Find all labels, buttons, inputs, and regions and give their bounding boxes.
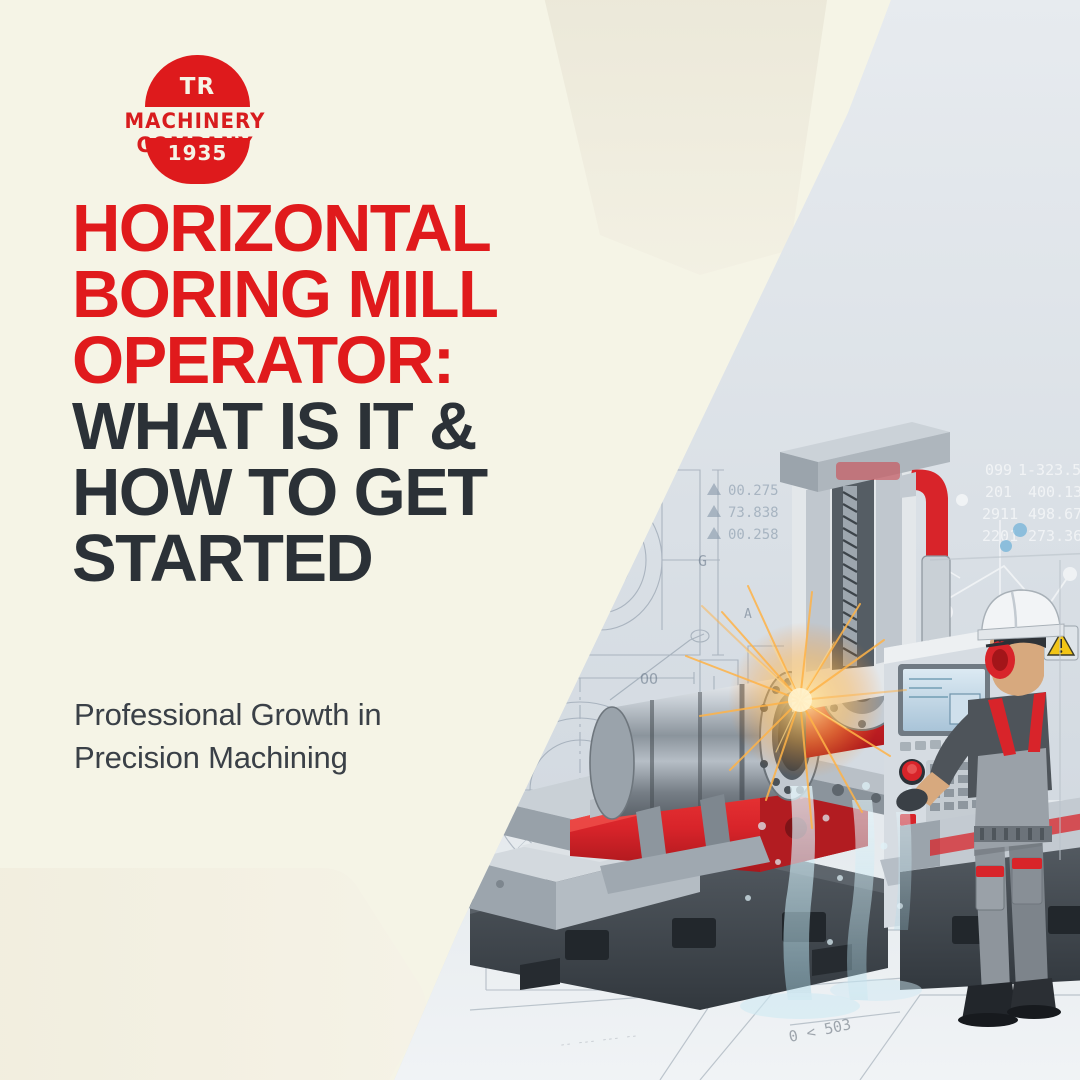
company-logo[interactable]: TR MACHINERY COMPANY 1935	[60, 55, 330, 170]
logo-bottom-arc: 1935	[145, 138, 250, 184]
headline-dark-line-2: HOW TO GET	[72, 460, 592, 526]
svg-text:099: 099	[985, 461, 1012, 479]
svg-text:273.360: 273.360	[1028, 527, 1080, 545]
subtitle-line-2: Precision Machining	[74, 737, 534, 780]
logo-initials: TR	[180, 76, 215, 107]
svg-text:OO: OO	[640, 670, 658, 688]
subtitle-line-1: Professional Growth in	[74, 694, 534, 737]
headline-red-line-1: HORIZONTAL	[72, 196, 592, 262]
logo-top-arc: TR	[145, 55, 250, 107]
subtitle-block: Professional Growth in Precision Machini…	[74, 694, 534, 780]
svg-text:201: 201	[985, 483, 1012, 501]
svg-text:A: A	[744, 607, 752, 622]
blueprint-tolerance-list: 00.275 73.838 00.258	[707, 483, 779, 543]
headline-red-line-3: OPERATOR:	[72, 328, 592, 394]
headline-block: HORIZONTAL BORING MILL OPERATOR: WHAT IS…	[72, 196, 592, 592]
headline-dark-line-3: STARTED	[72, 526, 592, 592]
tolerance-value-1: 00.275	[728, 483, 779, 499]
tolerance-value-3: 00.258	[728, 527, 779, 543]
tolerance-value-2: 73.838	[728, 505, 779, 521]
headline-red-line-2: BORING MILL	[72, 262, 592, 328]
svg-text:498.677: 498.677	[1028, 505, 1080, 523]
svg-text:1-323.50: 1-323.50	[1018, 461, 1080, 479]
headline-dark-line-1: WHAT IS IT &	[72, 394, 592, 460]
logo-founding-year: 1935	[168, 138, 228, 163]
poster-canvas: TR MACHINERY COMPANY 1935	[0, 0, 1080, 1080]
svg-text:400.130: 400.130	[1028, 483, 1080, 501]
svg-text:G: G	[698, 552, 707, 570]
